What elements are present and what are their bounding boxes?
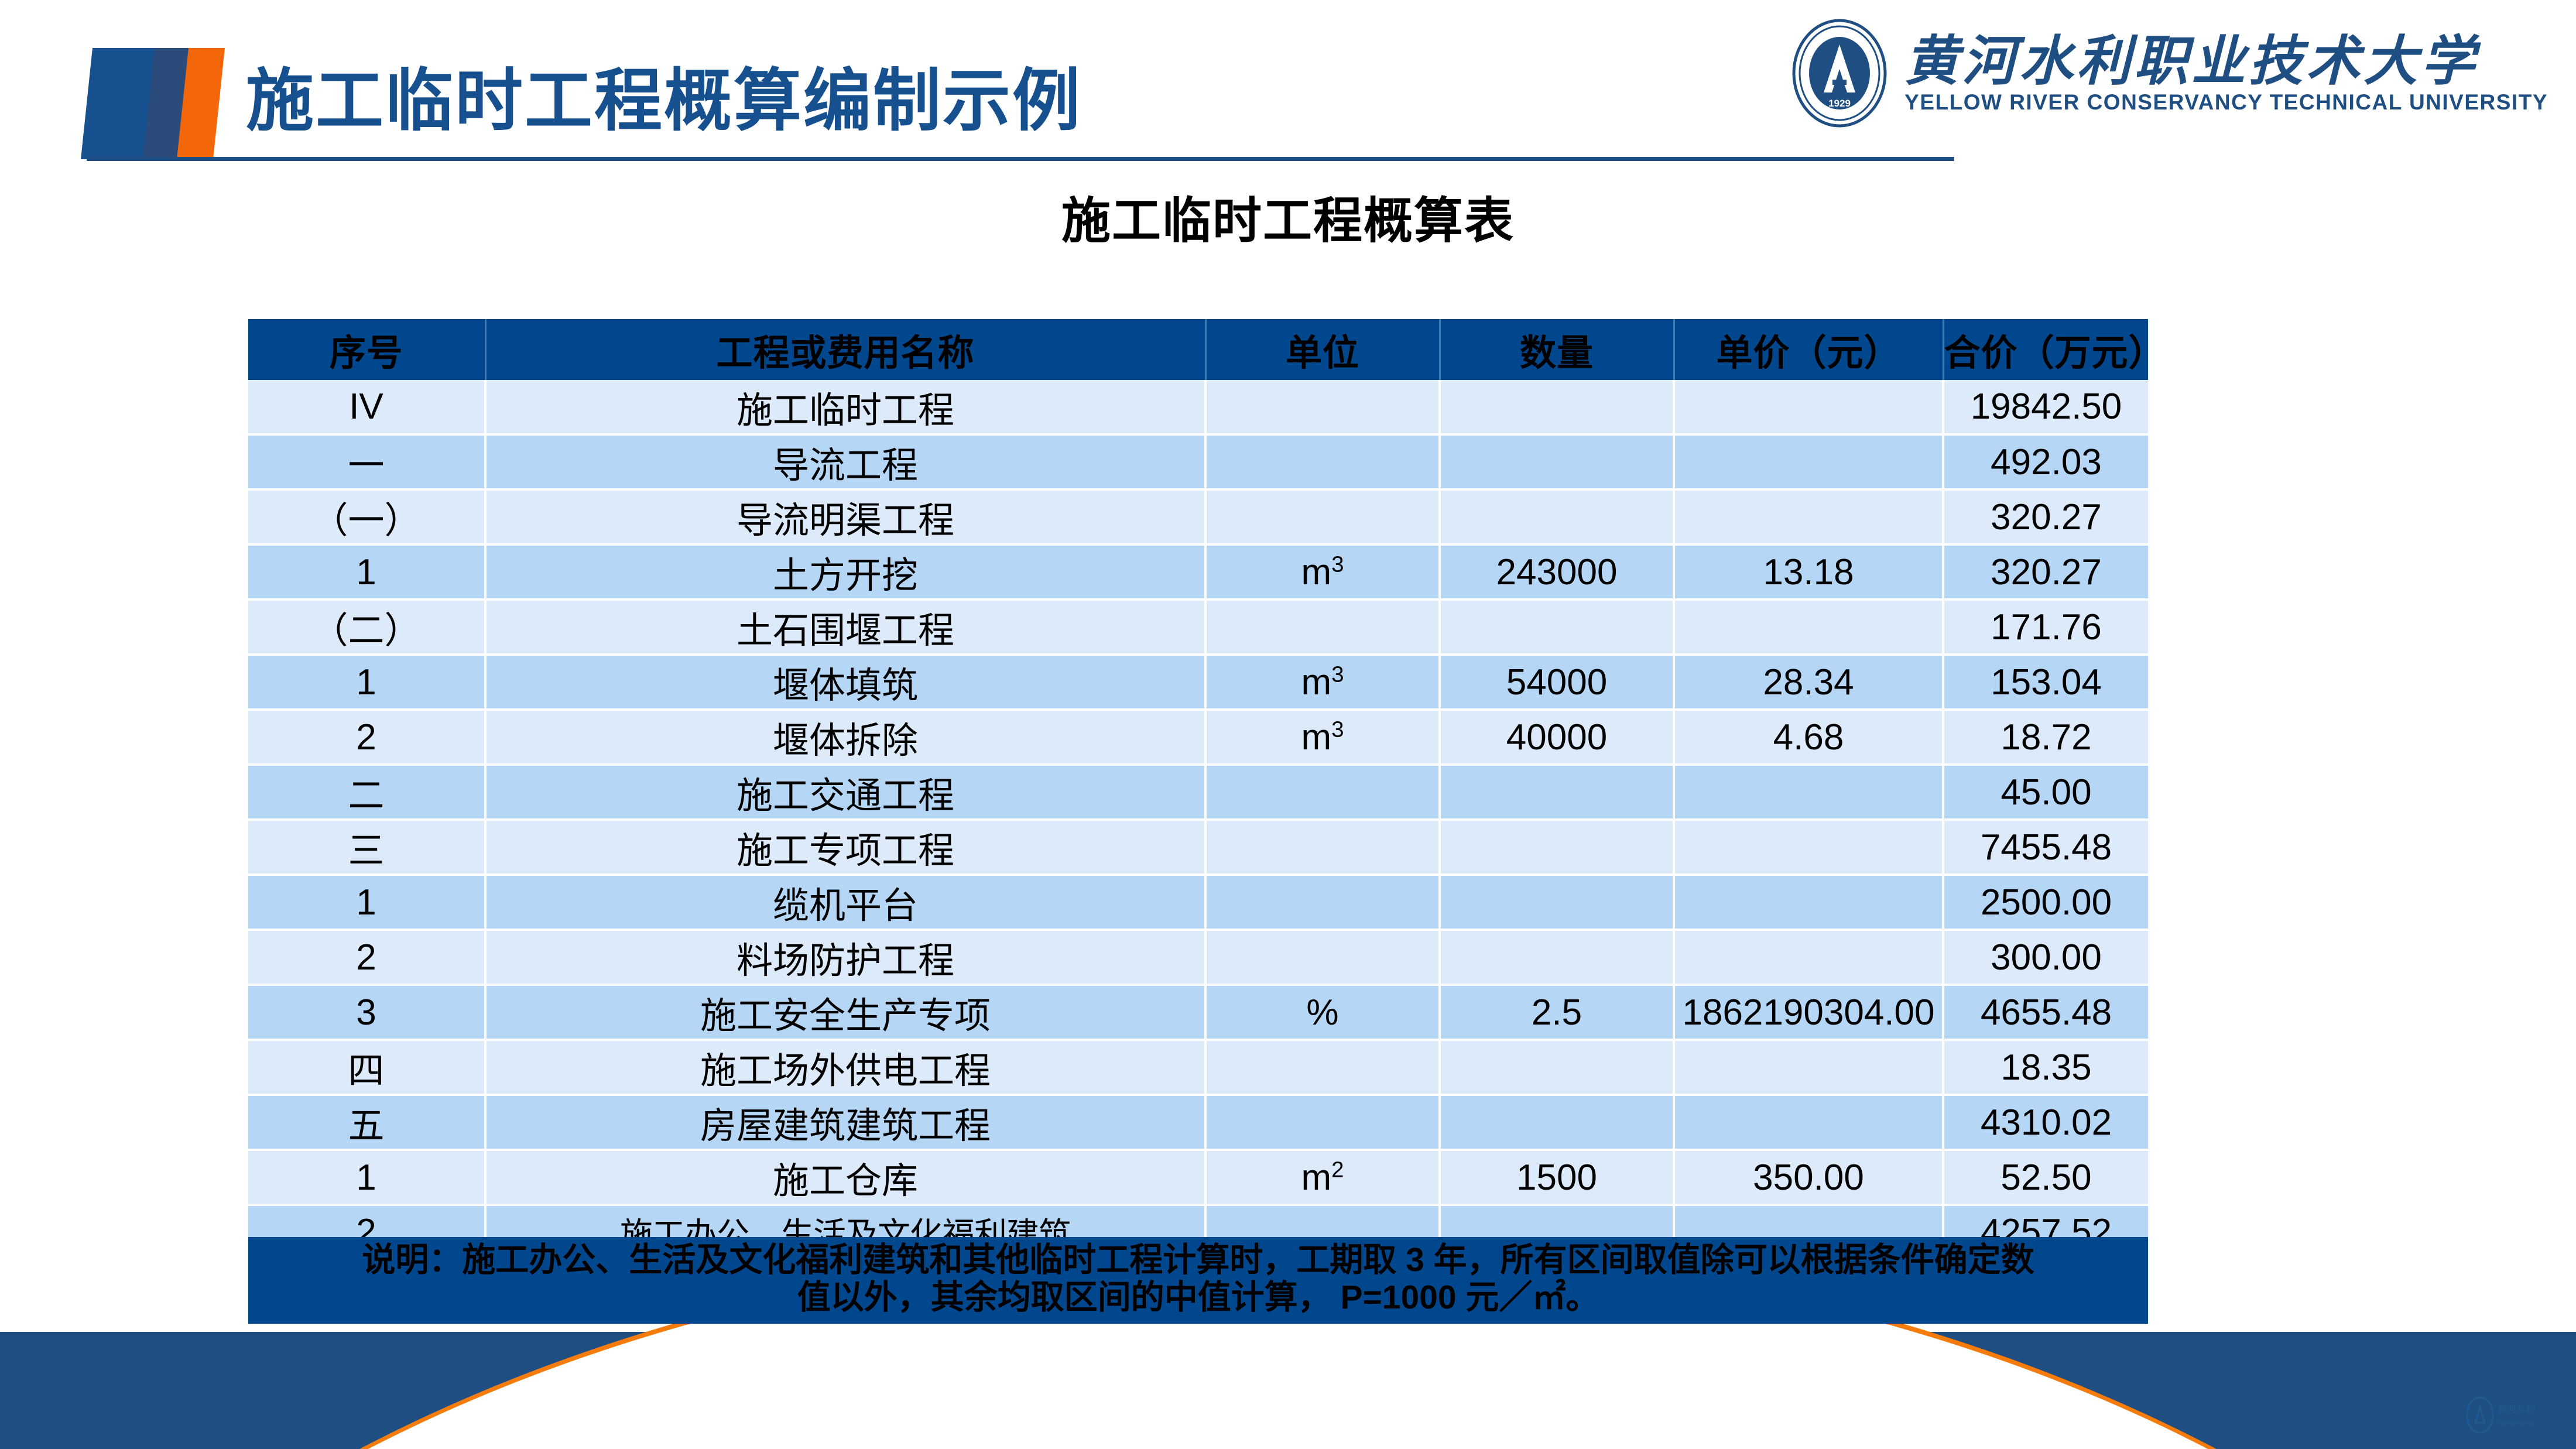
cell-qty: 54000 [1440, 655, 1674, 710]
cell-total: 52.50 [1943, 1150, 2148, 1205]
cell-no: 2 [248, 930, 485, 985]
cell-unit [1205, 1040, 1440, 1095]
cell-unit [1205, 820, 1440, 875]
cell-unit [1205, 765, 1440, 820]
cell-price [1674, 434, 1943, 489]
cell-total: 45.00 [1943, 765, 2148, 820]
cell-price [1674, 1095, 1943, 1150]
cell-price: 28.34 [1674, 655, 1943, 710]
cell-unit: m3 [1205, 655, 1440, 710]
cell-price [1674, 489, 1943, 544]
cell-qty [1440, 930, 1674, 985]
col-header-unit: 单位 [1205, 319, 1440, 380]
cell-unit: m2 [1205, 1150, 1440, 1205]
cell-no: 1 [248, 544, 485, 600]
table-row: （一）导流明渠工程320.27 [248, 489, 2148, 544]
table-row: 1施工仓库m21500350.0052.50 [248, 1150, 2148, 1205]
col-header-qty: 数量 [1440, 319, 1674, 380]
cell-no: 1 [248, 875, 485, 930]
cell-qty [1440, 765, 1674, 820]
cell-name: 施工场外供电工程 [485, 1040, 1205, 1095]
cell-price: 1862190304.00 [1674, 985, 1943, 1040]
table-row: 3施工安全生产专项%2.51862190304.004655.48 [248, 985, 2148, 1040]
cell-name: 施工安全生产专项 [485, 985, 1205, 1040]
cell-name: 导流工程 [485, 434, 1205, 489]
cell-name: 施工仓库 [485, 1150, 1205, 1205]
cell-qty [1440, 1040, 1674, 1095]
cell-unit [1205, 930, 1440, 985]
cell-unit: % [1205, 985, 1440, 1040]
cell-no: 一 [248, 434, 485, 489]
cell-total: 320.27 [1943, 489, 2148, 544]
cell-total: 153.04 [1943, 655, 2148, 710]
cell-name: 土石围堰工程 [485, 600, 1205, 655]
cell-name: 施工专项工程 [485, 820, 1205, 875]
table-note: 说明：施工办公、生活及文化福利建筑和其他临时工程计算时，工期取 3 年，所有区间… [248, 1237, 2148, 1324]
table-row: 三施工专项工程7455.48 [248, 820, 2148, 875]
table-row: IV施工临时工程19842.50 [248, 380, 2148, 434]
cell-no: 五 [248, 1095, 485, 1150]
cell-qty [1440, 820, 1674, 875]
cell-no: （一） [248, 489, 485, 544]
cell-total: 320.27 [1943, 544, 2148, 600]
budget-table-container: 序号 工程或费用名称 单位 数量 单价（元） 合价（万元） IV施工临时工程19… [248, 319, 2148, 1316]
cell-no: 二 [248, 765, 485, 820]
cell-total: 492.03 [1943, 434, 2148, 489]
table-row: 1缆机平台2500.00 [248, 875, 2148, 930]
table-row: 1堰体填筑m35400028.34153.04 [248, 655, 2148, 710]
table-row: 2堰体拆除m3400004.6818.72 [248, 710, 2148, 765]
table-row: 二施工交通工程45.00 [248, 765, 2148, 820]
note-line-1: 说明：施工办公、生活及文化福利建筑和其他临时工程计算时，工期取 3 年，所有区间… [259, 1242, 2137, 1279]
table-row: 一导流工程492.03 [248, 434, 2148, 489]
cell-price [1674, 600, 1943, 655]
table-header-row: 序号 工程或费用名称 单位 数量 单价（元） 合价（万元） [248, 319, 2148, 380]
cell-price [1674, 765, 1943, 820]
watermark-logo-icon: 黄河水利 conservancy [2465, 1395, 2553, 1438]
university-name-block: 黄河水利职业技术大学 YELLOW RIVER CONSERVANCY TECH… [1904, 34, 2548, 113]
table-row: 四施工场外供电工程18.35 [248, 1040, 2148, 1095]
budget-table: 序号 工程或费用名称 单位 数量 单价（元） 合价（万元） IV施工临时工程19… [248, 319, 2148, 1316]
cell-qty [1440, 434, 1674, 489]
cell-name: 缆机平台 [485, 875, 1205, 930]
cell-price [1674, 930, 1943, 985]
cell-name: 料场防护工程 [485, 930, 1205, 985]
cell-price: 4.68 [1674, 710, 1943, 765]
cell-unit: m3 [1205, 544, 1440, 600]
cell-total: 300.00 [1943, 930, 2148, 985]
cell-qty [1440, 489, 1674, 544]
svg-text:conservancy: conservancy [2498, 1420, 2534, 1427]
table-header: 序号 工程或费用名称 单位 数量 单价（元） 合价（万元） [248, 319, 2148, 380]
cell-qty [1440, 875, 1674, 930]
cell-name: 堰体填筑 [485, 655, 1205, 710]
note-line-2: 值以外，其余均取区间的中值计算， P=1000 元／㎡。 [259, 1279, 2137, 1317]
cell-unit [1205, 489, 1440, 544]
cell-name: 施工交通工程 [485, 765, 1205, 820]
cell-total: 7455.48 [1943, 820, 2148, 875]
cell-qty: 40000 [1440, 710, 1674, 765]
cell-total: 2500.00 [1943, 875, 2148, 930]
col-header-name: 工程或费用名称 [485, 319, 1205, 380]
col-header-no: 序号 [248, 319, 485, 380]
cell-total: 18.72 [1943, 710, 2148, 765]
cell-no: IV [248, 380, 485, 434]
cell-name: 土方开挖 [485, 544, 1205, 600]
cell-qty: 1500 [1440, 1150, 1674, 1205]
cell-price: 350.00 [1674, 1150, 1943, 1205]
cell-total: 18.35 [1943, 1040, 2148, 1095]
university-logo: 1929 黄河水利职业技术大学 YELLOW RIVER CONSERVANCY… [1790, 18, 2548, 129]
cell-price [1674, 380, 1943, 434]
cell-total: 4655.48 [1943, 985, 2148, 1040]
page-title: 施工临时工程概算编制示例 [246, 48, 1082, 153]
cell-name: 房屋建筑建筑工程 [485, 1095, 1205, 1150]
cell-unit [1205, 434, 1440, 489]
table-row: 2料场防护工程300.00 [248, 930, 2148, 985]
col-header-total: 合价（万元） [1943, 319, 2148, 380]
cell-name: 施工临时工程 [485, 380, 1205, 434]
table-heading: 施工临时工程概算表 [0, 181, 2576, 252]
cell-qty [1440, 600, 1674, 655]
cell-unit [1205, 380, 1440, 434]
cell-no: 三 [248, 820, 485, 875]
cell-price [1674, 1040, 1943, 1095]
cell-no: 四 [248, 1040, 485, 1095]
cell-qty [1440, 380, 1674, 434]
cell-unit [1205, 875, 1440, 930]
col-header-price: 单价（元） [1674, 319, 1943, 380]
cell-no: 1 [248, 655, 485, 710]
title-accent-bars [87, 48, 221, 159]
university-name-en: YELLOW RIVER CONSERVANCY TECHNICAL UNIVE… [1904, 91, 2548, 113]
cell-price [1674, 875, 1943, 930]
cell-no: 1 [248, 1150, 485, 1205]
cell-price: 13.18 [1674, 544, 1943, 600]
cell-price [1674, 820, 1943, 875]
cell-unit: m3 [1205, 710, 1440, 765]
cell-total: 4310.02 [1943, 1095, 2148, 1150]
table-body: IV施工临时工程19842.50一导流工程492.03（一）导流明渠工程320.… [248, 380, 2148, 1314]
cell-no: （二） [248, 600, 485, 655]
cell-name: 堰体拆除 [485, 710, 1205, 765]
university-name-cn: 黄河水利职业技术大学 [1904, 34, 2548, 88]
cell-unit [1205, 600, 1440, 655]
cell-no: 3 [248, 985, 485, 1040]
table-row: 1土方开挖m324300013.18320.27 [248, 544, 2148, 600]
cell-no: 2 [248, 710, 485, 765]
cell-qty: 2.5 [1440, 985, 1674, 1040]
cell-qty: 243000 [1440, 544, 1674, 600]
svg-text:黄河水利: 黄河水利 [2498, 1404, 2535, 1414]
table-row: （二）土石围堰工程171.76 [248, 600, 2148, 655]
university-emblem-icon: 1929 [1790, 18, 1889, 129]
cell-name: 导流明渠工程 [485, 489, 1205, 544]
svg-text:1929: 1929 [1828, 98, 1851, 109]
cell-unit [1205, 1095, 1440, 1150]
cell-total: 171.76 [1943, 600, 2148, 655]
slide-root: 黄河水利 conservancy 施工临时工程概算编制示例 1929 黄河水利职… [0, 0, 2576, 1449]
cell-total: 19842.50 [1943, 380, 2148, 434]
table-row: 五房屋建筑建筑工程4310.02 [248, 1095, 2148, 1150]
title-underline [87, 157, 1954, 161]
cell-qty [1440, 1095, 1674, 1150]
